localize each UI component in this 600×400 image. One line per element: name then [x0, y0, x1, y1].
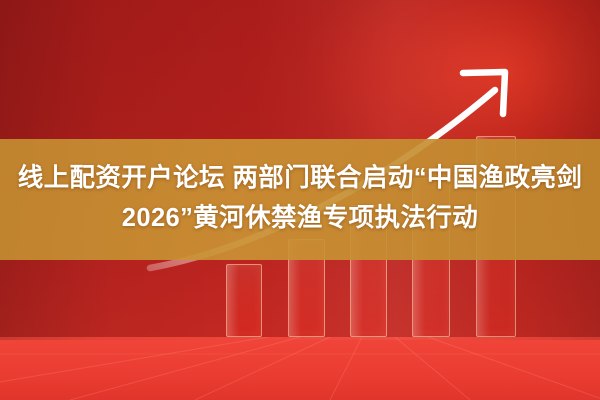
- headline-line-2: 2026”黄河休禁渔专项执法行动: [0, 198, 600, 238]
- page-title: 线上配资开户论坛 两部门联合启动“中国渔政亮剑 2026”黄河休禁渔专项执法行动: [0, 158, 600, 238]
- promo-banner: 线上配资开户论坛 两部门联合启动“中国渔政亮剑 2026”黄河休禁渔专项执法行动: [0, 0, 600, 400]
- headline-line-1: 线上配资开户论坛 两部门联合启动“中国渔政亮剑: [0, 158, 600, 198]
